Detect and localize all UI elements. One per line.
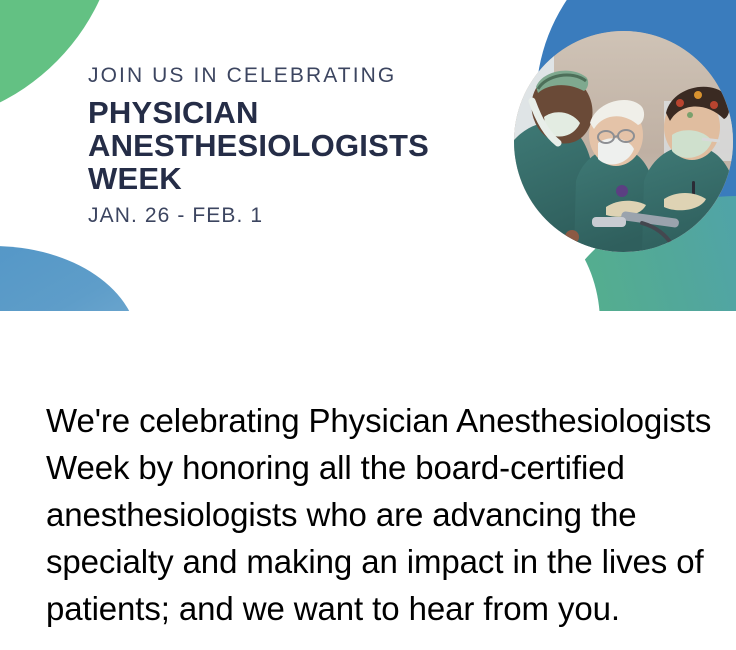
banner-headline: PHYSICIAN ANESTHESIOLOGISTS WEEK: [88, 96, 508, 195]
body-paragraph: We're celebrating Physician Anesthesiolo…: [46, 397, 712, 632]
operating-room-photo-art: [514, 31, 733, 252]
banner-date-range: JAN. 26 - FEB. 1: [88, 202, 508, 230]
promo-banner: JOIN US IN CELEBRATING PHYSICIAN ANESTHE…: [0, 0, 736, 311]
headline-line-2: ANESTHESIOLOGISTS: [88, 129, 508, 162]
blue-blob-decoration-bottom-left: [0, 246, 138, 311]
banner-text-block: JOIN US IN CELEBRATING PHYSICIAN ANESTHE…: [88, 63, 508, 230]
headline-line-1: PHYSICIAN: [88, 96, 508, 129]
headline-line-3: WEEK: [88, 162, 508, 195]
banner-eyebrow: JOIN US IN CELEBRATING: [88, 63, 508, 89]
operating-room-photo: [514, 31, 733, 252]
